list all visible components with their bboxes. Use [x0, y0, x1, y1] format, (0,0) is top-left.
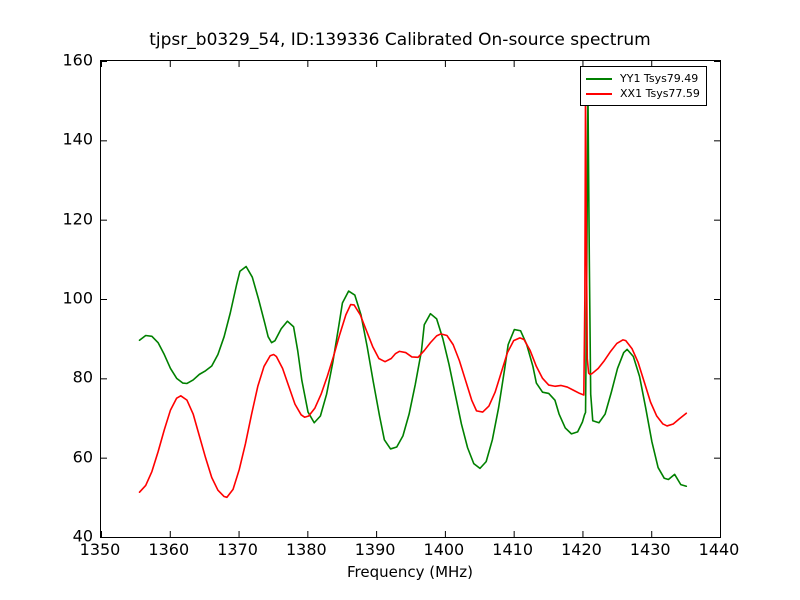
y-tick-100: 100 [62, 289, 93, 308]
legend: YY1 Tsys79.49 XX1 Tsys77.59 [580, 66, 707, 106]
x-tick-1430: 1430 [630, 540, 671, 559]
x-tick-1350: 1350 [80, 540, 121, 559]
y-tick-120: 120 [62, 209, 93, 228]
x-tick-1420: 1420 [561, 540, 602, 559]
x-tick-1400: 1400 [424, 540, 465, 559]
x-tick-1440: 1440 [699, 540, 740, 559]
spectrum-lines [101, 61, 720, 537]
x-tick-1390: 1390 [355, 540, 396, 559]
y-tick-140: 140 [62, 130, 93, 149]
x-tick-1410: 1410 [492, 540, 533, 559]
chart-title: tjpsr_b0329_54, ID:139336 Calibrated On-… [0, 30, 800, 50]
legend-swatch-yy1 [586, 78, 612, 80]
series-line-xx1 [140, 83, 687, 498]
x-tick-1380: 1380 [286, 540, 327, 559]
legend-label-yy1: YY1 Tsys79.49 [620, 71, 698, 86]
x-axis-label: Frequency (MHz) [100, 563, 720, 581]
series-line-yy1 [140, 93, 687, 487]
legend-swatch-xx1 [586, 93, 612, 95]
legend-entry-yy1: YY1 Tsys79.49 [586, 71, 700, 86]
y-tick-80: 80 [73, 368, 93, 387]
spectrum-figure: tjpsr_b0329_54, ID:139336 Calibrated On-… [0, 0, 800, 600]
y-tick-60: 60 [73, 447, 93, 466]
legend-label-xx1: XX1 Tsys77.59 [620, 86, 700, 101]
plot-area: YY1 Tsys79.49 XX1 Tsys77.59 [100, 60, 721, 538]
y-tick-160: 160 [62, 51, 93, 70]
x-tick-1370: 1370 [217, 540, 258, 559]
legend-entry-xx1: XX1 Tsys77.59 [586, 86, 700, 101]
x-tick-1360: 1360 [148, 540, 189, 559]
